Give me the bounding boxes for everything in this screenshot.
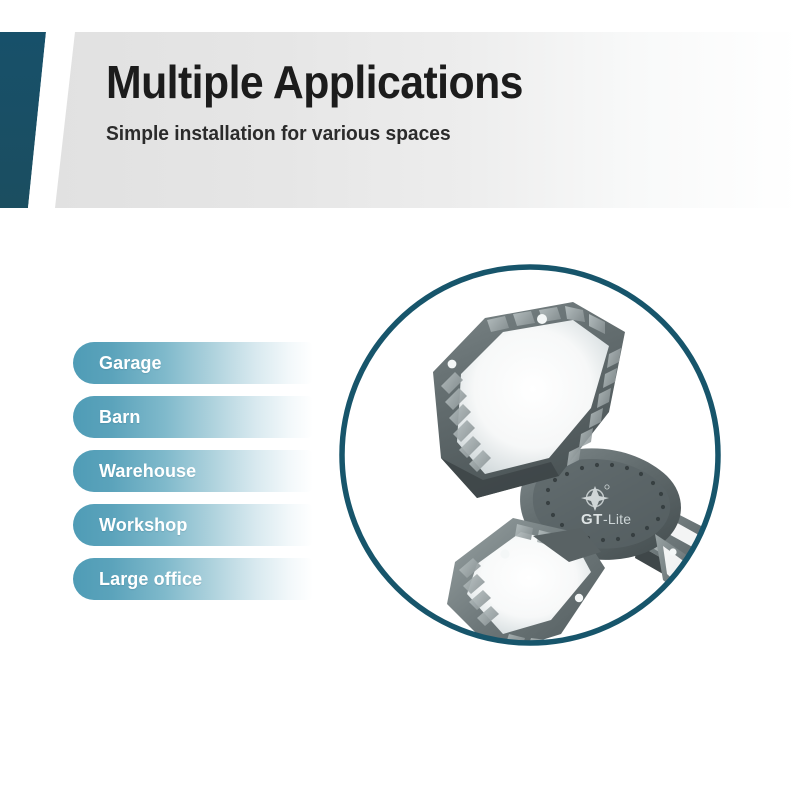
header-band: Multiple Applications Simple installatio… <box>0 0 800 215</box>
list-item-garage[interactable]: Garage <box>73 342 313 384</box>
application-list: Garage Barn Warehouse Workshop Large off… <box>73 342 323 612</box>
lamp-screw-hole-right-2 <box>669 548 676 555</box>
lamp-screw-hole-top <box>537 314 547 324</box>
list-item-barn[interactable]: Barn <box>73 396 313 438</box>
product-illustration: GT -Lite <box>337 262 723 648</box>
brand-wordmark-suffix: -Lite <box>603 511 631 527</box>
list-item-label: Warehouse <box>99 461 196 482</box>
page-subtitle: Simple installation for various spaces <box>106 121 644 147</box>
brand-wordmark: GT <box>581 511 603 528</box>
header-text-block: Multiple Applications Simple installatio… <box>106 55 666 147</box>
list-item-warehouse[interactable]: Warehouse <box>73 450 313 492</box>
list-item-label: Garage <box>99 353 162 374</box>
lamp-screw-hole-bottom <box>500 549 509 558</box>
page-title: Multiple Applications <box>106 55 627 109</box>
list-item-large-office[interactable]: Large office <box>73 558 313 600</box>
list-item-workshop[interactable]: Workshop <box>73 504 313 546</box>
slide-root: Multiple Applications Simple installatio… <box>0 0 800 800</box>
list-item-label: Workshop <box>99 515 187 536</box>
lamp-screw-hole-left <box>448 360 457 369</box>
product-image-circle: GT -Lite <box>337 262 723 648</box>
list-item-label: Barn <box>99 407 140 428</box>
lamp-screw-hole-bottom-2 <box>575 594 583 602</box>
list-item-label: Large office <box>99 569 202 590</box>
